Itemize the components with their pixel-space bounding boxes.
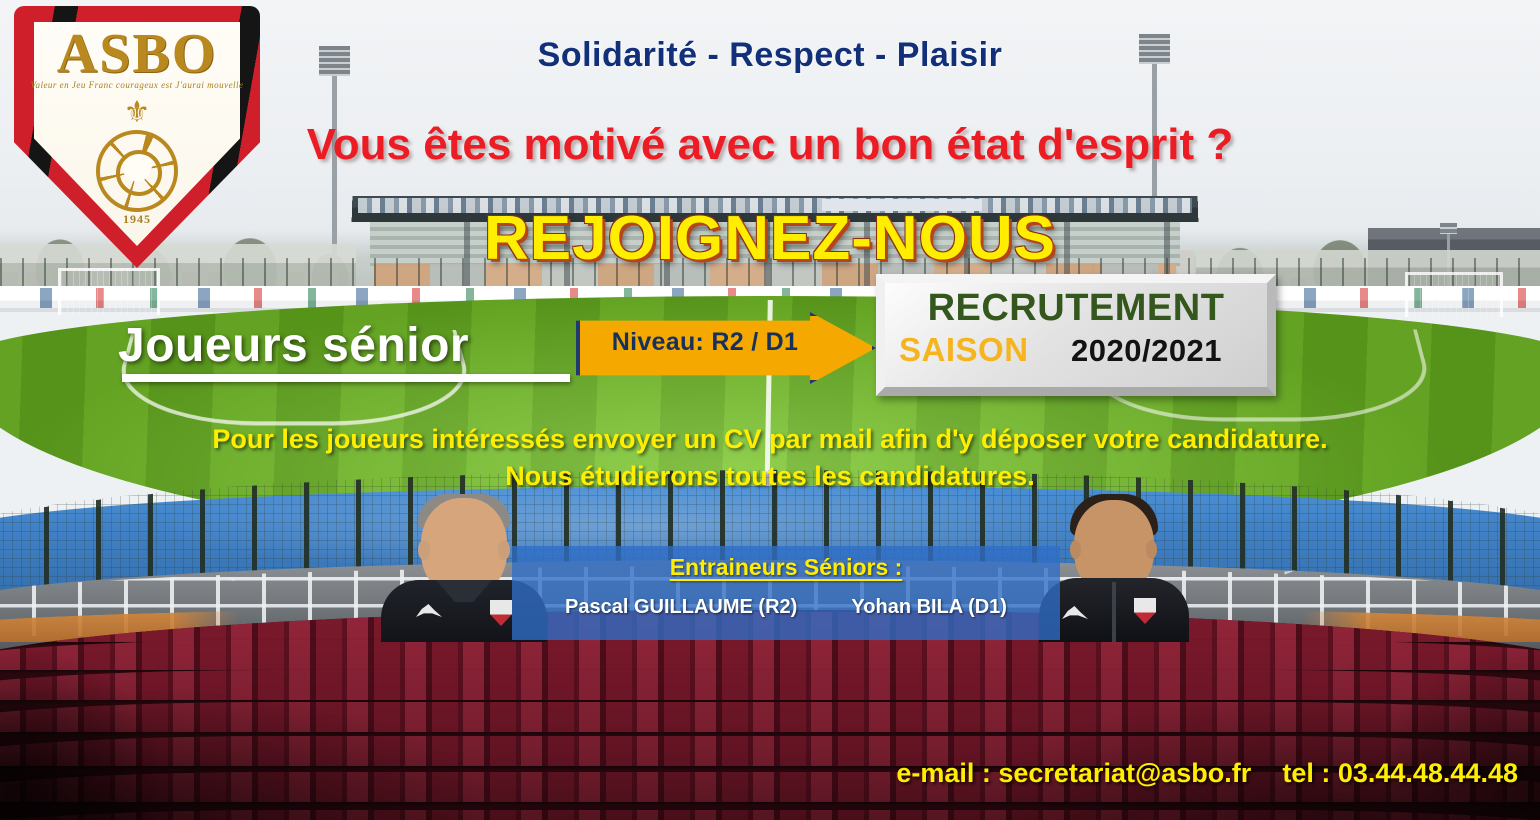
recruitment-title: RECRUTEMENT <box>885 287 1267 330</box>
target-audience-label: Joueurs sénior <box>118 318 469 373</box>
contact-footer: e-mail : secretariat@asbo.fr tel : 03.44… <box>0 758 1540 789</box>
recruitment-plaque: RECRUTEMENT SAISON 2020/2021 <box>876 274 1276 396</box>
club-motto: Solidarité - Respect - Plaisir <box>0 36 1540 75</box>
coach-portrait-yohan-bila <box>1038 494 1190 642</box>
coaches-name-list: Pascal GUILLAUME (R2) Yohan BILA (D1) <box>512 596 1060 619</box>
target-audience-underline <box>122 374 570 382</box>
coaches-title: Entraineurs Séniors : <box>512 554 1060 581</box>
level-label: Niveau: R2 / D1 <box>590 328 820 357</box>
season-years: 2020/2021 <box>1071 333 1222 369</box>
coach-name: Pascal GUILLAUME (R2) <box>565 596 797 619</box>
goal-left <box>58 268 160 315</box>
coach-ear-right <box>1146 540 1157 559</box>
contact-email[interactable]: e-mail : secretariat@asbo.fr <box>896 758 1251 788</box>
goal-right <box>1405 272 1503 317</box>
contact-phone[interactable]: tel : 03.44.48.44.48 <box>1282 758 1518 788</box>
coach-ear-left <box>1070 540 1081 559</box>
coaches-panel: Entraineurs Séniors : Pascal GUILLAUME (… <box>512 546 1060 640</box>
level-arrow-banner: Niveau: R2 / D1 <box>576 312 876 384</box>
coach-name: Yohan BILA (D1) <box>851 596 1007 619</box>
recruitment-poster: ASBO Valeur en Jeu Franc courageux est J… <box>0 0 1540 820</box>
coach-ear-right <box>498 540 510 560</box>
instructions-line-1: Pour les joueurs intéressés envoyer un C… <box>0 424 1540 455</box>
join-us-callout: REJOIGNEZ-NOUS <box>0 203 1540 274</box>
headline-question: Vous êtes motivé avec un bon état d'espr… <box>0 120 1540 170</box>
jacket-zip <box>1112 582 1116 642</box>
coach-ear-left <box>418 540 430 560</box>
season-label: SAISON <box>899 331 1029 369</box>
crest-motto-text: Valeur en Jeu Franc courageux est J'aura… <box>14 80 260 90</box>
instructions-line-2: Nous étudierons toutes les candidatures. <box>0 461 1540 492</box>
